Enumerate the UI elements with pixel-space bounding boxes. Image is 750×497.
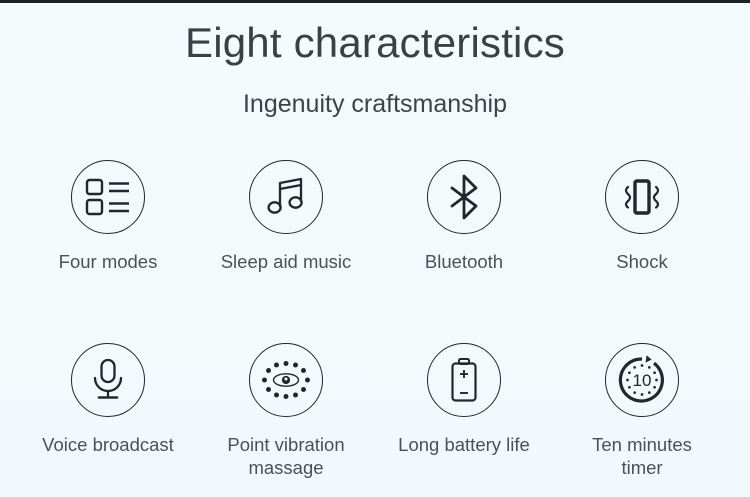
feature-icon-frame: 10: [605, 343, 679, 417]
feature-icon-frame: [427, 160, 501, 234]
point-massage-icon: [256, 356, 316, 404]
bluetooth-icon: [447, 174, 481, 220]
feature-icon-frame: [249, 343, 323, 417]
feature-ten-minutes-timer[interactable]: 10 Ten minutes timer: [558, 343, 726, 480]
feature-sleep-aid-music[interactable]: Sleep aid music: [202, 160, 370, 274]
feature-icon-frame: [427, 343, 501, 417]
timer-icon: 10: [616, 354, 668, 406]
feature-label: Long battery life: [398, 433, 530, 457]
feature-four-modes[interactable]: Four modes: [24, 160, 192, 274]
list-modes-icon: [85, 177, 131, 217]
feature-icon-frame: [249, 160, 323, 234]
feature-long-battery-life[interactable]: Long battery life: [380, 343, 548, 457]
feature-icon-frame: [605, 160, 679, 234]
feature-label: Shock: [616, 250, 667, 274]
feature-label: Sleep aid music: [221, 250, 352, 274]
feature-icon-frame: [71, 343, 145, 417]
music-note-icon: [266, 176, 306, 218]
feature-row-bottom: Voice broadcast: [24, 343, 726, 480]
feature-shock[interactable]: Shock: [558, 160, 726, 274]
promo-feature-panel: Eight characteristics Ingenuity craftsma…: [0, 0, 750, 497]
feature-grid: Four modes Sleep aid music: [24, 160, 726, 480]
feature-icon-frame: [71, 160, 145, 234]
microphone-icon: [89, 358, 127, 402]
page-title: Eight characteristics: [0, 19, 750, 67]
feature-voice-broadcast[interactable]: Voice broadcast: [24, 343, 192, 457]
timer-value-text: 10: [633, 371, 652, 390]
feature-point-vibration-massage[interactable]: Point vibration massage: [202, 343, 370, 480]
feature-row-top: Four modes Sleep aid music: [24, 160, 726, 274]
feature-label: Bluetooth: [425, 250, 503, 274]
battery-icon: [447, 357, 481, 403]
feature-bluetooth[interactable]: Bluetooth: [380, 160, 548, 274]
top-edge-strip: [0, 0, 750, 3]
feature-label: Voice broadcast: [42, 433, 174, 457]
feature-label: Ten minutes timer: [592, 433, 692, 480]
feature-label: Point vibration massage: [227, 433, 344, 480]
feature-label: Four modes: [59, 250, 158, 274]
vibration-icon: [619, 176, 665, 218]
page-subtitle: Ingenuity craftsmanship: [0, 90, 750, 119]
